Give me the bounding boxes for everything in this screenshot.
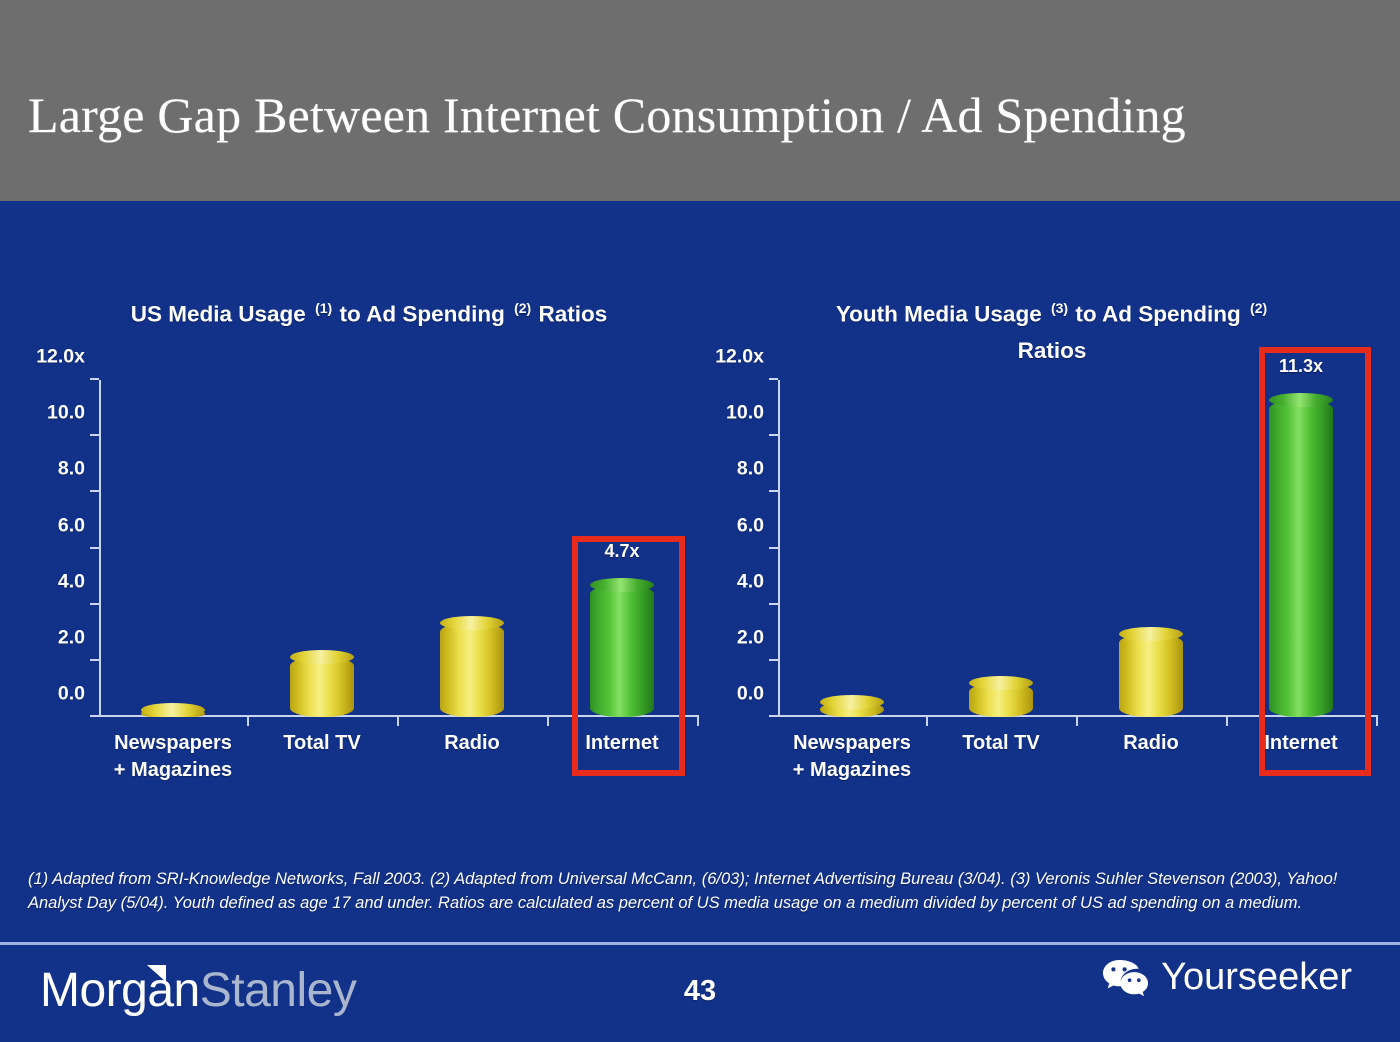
y-tick-2 [769, 659, 778, 661]
chart-panel-us-media-usage: US Media Usage (1) to Ad Spending (2) Ra… [0, 201, 720, 841]
y-tick-4 [90, 603, 99, 605]
bar-slot-total-tv [926, 380, 1076, 717]
footnote-text: (1) Adapted from SRI-Knowledge Networks,… [28, 868, 1376, 915]
bar-body [1119, 634, 1183, 717]
y-tick-0 [90, 715, 99, 717]
bar-cap [1269, 393, 1333, 407]
chart-title-us-media-usage: US Media Usage (1) to Ad Spending (2) Ra… [0, 290, 720, 333]
page-title: Large Gap Between Internet Consumption /… [28, 86, 1186, 144]
watermark-text: Yourseeker [1161, 956, 1352, 999]
x-tick-3 [547, 717, 549, 726]
bar-slot-newspapers-magazines [778, 380, 926, 717]
bar-newspapers-magazines [820, 702, 884, 717]
bar-total-tv [969, 683, 1033, 717]
y-axis-label-4: 4.0 [58, 570, 85, 593]
x-tick-3 [1226, 717, 1228, 726]
bar-slot-radio [397, 380, 547, 717]
bar-slot-newspapers-magazines [99, 380, 247, 717]
y-tick-0 [769, 715, 778, 717]
label-line-2: + Magazines [793, 757, 911, 784]
bar-value-internet: 4.7x [604, 541, 639, 562]
x-axis-label-total-tv: Total TV [283, 730, 360, 757]
bar-value-internet: 11.3x [1279, 356, 1323, 377]
x-tick-4 [1376, 717, 1378, 726]
watermark: Yourseeker [1102, 956, 1352, 999]
y-axis-label-4: 4.0 [737, 570, 764, 593]
y-axis-label-8: 8.0 [737, 458, 764, 481]
bar-cap [820, 695, 884, 709]
y-axis-label-12: 12.0x [36, 346, 85, 369]
y-axis-label-0: 0.0 [58, 683, 85, 706]
bar-series-youth-media-usage: 11.3x [778, 380, 1378, 717]
y-axis-label-12: 12.0x [715, 346, 764, 369]
bar-cap [969, 676, 1033, 690]
slide: Large Gap Between Internet Consumption /… [0, 0, 1400, 1042]
plot-area-youth-media-usage: 0.0 2.0 4.0 6.0 8.0 10.0 12.0x [778, 380, 1378, 717]
bar-slot-internet: 4.7x [547, 380, 697, 717]
chart-panel-youth-media-usage: Youth Media Usage (3) to Ad Spending (2)… [712, 201, 1400, 841]
bar-slot-internet: 11.3x [1226, 380, 1376, 717]
chart-title-segment-a: US Media Usage [131, 302, 306, 327]
bar-cap [590, 578, 654, 592]
bar-total-tv [290, 657, 354, 717]
wechat-icon [1102, 958, 1149, 998]
y-axis-label-8: 8.0 [58, 458, 85, 481]
x-axis-label-internet: Internet [585, 730, 658, 757]
bar-cap [440, 616, 504, 630]
chart-title-segment-b: to Ad Spending [1075, 302, 1240, 327]
bar-body [290, 657, 354, 717]
bar-internet: 11.3x [1269, 400, 1333, 717]
y-tick-12 [90, 378, 99, 380]
y-axis-label-0: 0.0 [737, 683, 764, 706]
y-tick-8 [769, 490, 778, 492]
y-axis-label-2: 2.0 [58, 626, 85, 649]
footnote-ref-2: (2) [511, 300, 532, 316]
x-tick-1 [247, 717, 249, 726]
x-axis-label-internet: Internet [1264, 730, 1337, 757]
footnote-ref-2: (2) [1247, 300, 1268, 316]
chart-title-segment-c: Ratios [539, 302, 608, 327]
label-line-1: Newspapers [793, 730, 911, 757]
bar-cap [290, 650, 354, 664]
x-axis-label-radio: Radio [1123, 730, 1179, 757]
y-axis-label-6: 6.0 [737, 514, 764, 537]
x-axis-label-total-tv: Total TV [962, 730, 1039, 757]
y-tick-8 [90, 490, 99, 492]
slide-footer: MorganStanley 43 Yourseeker [0, 945, 1400, 1042]
bar-radio [1119, 634, 1183, 717]
bar-radio [440, 623, 504, 717]
chart-title-segment-b: to Ad Spending [339, 302, 504, 327]
footnote-ref-1: (1) [312, 300, 333, 316]
y-tick-12 [769, 378, 778, 380]
y-axis-label-10: 10.0 [726, 402, 764, 425]
bar-internet: 4.7x [590, 585, 654, 717]
x-tick-1 [926, 717, 928, 726]
y-axis-label-2: 2.0 [737, 626, 764, 649]
y-tick-10 [90, 434, 99, 436]
bar-body [590, 585, 654, 717]
y-axis-label-10: 10.0 [47, 402, 85, 425]
y-tick-4 [769, 603, 778, 605]
label-line-2: + Magazines [114, 757, 232, 784]
chart-title-segment-c: Ratios [1018, 338, 1087, 363]
bar-newspapers-magazines [141, 710, 205, 717]
y-axis-label-6: 6.0 [58, 514, 85, 537]
plot-area-us-media-usage: 0.0 2.0 4.0 6.0 8.0 10.0 12.0x [99, 380, 699, 717]
x-tick-2 [1076, 717, 1078, 726]
x-tick-4 [697, 717, 699, 726]
y-tick-6 [769, 547, 778, 549]
x-axis-label-radio: Radio [444, 730, 500, 757]
x-tick-2 [397, 717, 399, 726]
bar-body [440, 623, 504, 717]
x-axis-label-newspapers-magazines: Newspapers + Magazines [793, 730, 911, 784]
footnote-ref-3: (3) [1048, 300, 1069, 316]
y-tick-2 [90, 659, 99, 661]
bar-cap [141, 703, 205, 717]
slide-header-band: Large Gap Between Internet Consumption /… [0, 0, 1400, 201]
bar-slot-radio [1076, 380, 1226, 717]
y-tick-10 [769, 434, 778, 436]
bar-series-us-media-usage: 4.7x [99, 380, 699, 717]
x-axis-label-newspapers-magazines: Newspapers + Magazines [114, 730, 232, 784]
chart-title-segment-a: Youth Media Usage [836, 302, 1042, 327]
bar-body [1269, 400, 1333, 717]
bar-cap [1119, 627, 1183, 641]
y-tick-6 [90, 547, 99, 549]
label-line-1: Newspapers [114, 730, 232, 757]
bar-slot-total-tv [247, 380, 397, 717]
